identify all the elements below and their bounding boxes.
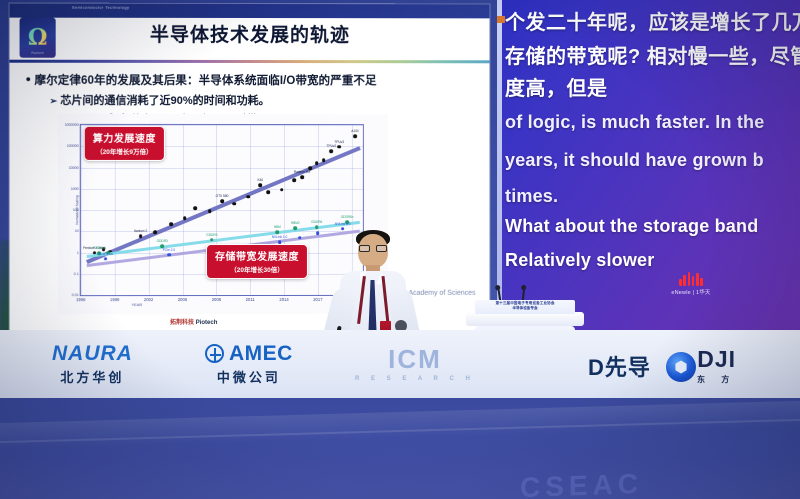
chart-data-point [210,238,214,242]
chart-data-point [293,226,297,230]
slide-credit-left-en: Piotech [196,320,218,326]
screen-orange-marker [497,16,505,23]
sponsor-xiandao-cn: D先导 [588,350,651,382]
chart-data-point [193,207,197,211]
chart-point-label: A100 [351,129,358,133]
chart-y-tick-label: 1000 [71,187,79,191]
subtitle-line-5: years, it should have grown b [505,150,764,171]
chart-data-point [337,145,341,149]
sponsor-logo-naura: NAURA 北方华创 [52,342,133,386]
chart-point-label: PCIe 1.0a [99,252,113,256]
chart-x-tick-label: 2011 [246,297,255,302]
glasses-icon [359,245,387,252]
chart-point-label: PCIe 2.0 [163,248,175,252]
slide-credit-left: 拓荆科技 Piotech [170,317,217,326]
chart-point-label: Itanium 2 [134,229,147,233]
chart-data-point [167,253,171,257]
floor-watermark-cseac: CSEAC [520,468,643,499]
chart-data-point [322,158,326,162]
chart-point-label: GDDR6x [341,215,354,219]
sponsor-logo-dji: DJI 东 方 [697,346,736,385]
podium-plate-line2: 半导体设备专会 [475,306,575,311]
slide-header-strip-text: Semiconductor Technology [72,5,130,10]
chart-data-point [220,199,224,203]
subtitle-line-4: of logic, is much faster. In the [505,112,764,133]
callout-compute-growth: 算力发展速度 （20年增长9万倍） [84,126,165,161]
slide-bullet-secondary: ➢ 芯片间的通信消耗了近90%的时间和功耗。 [50,92,270,108]
chart-x-tick-label: 2014 [279,297,288,302]
chart-data-point [308,167,312,171]
callout-compute-title: 算力发展速度 [93,130,156,145]
slide-bullet-primary: ● 摩尔定律60年的发展及其后果：半导体系统面临I/O带宽的严重不足 [26,72,377,88]
screen-left-edge [497,0,502,330]
sponsor-naura-name: NAURA [52,342,133,366]
subtitle-line-1: 个发二十年呢，应该是增长了几万 [505,6,800,35]
chart-data-point [280,188,284,192]
chart-y-tick-label: 100000 [67,144,79,148]
chart-y-tick-label: 10 [75,229,79,233]
chart-point-label: Radeon RX [294,170,310,174]
callout-compute-subtitle: （20年增长9万倍） [93,146,156,156]
dji-mark-icon [666,352,696,382]
sponsor-watermark-enewle: eNewle | 1华天 [656,272,726,296]
sponsor-dji-cn: 东 方 [697,374,736,385]
chart-point-label: K40 [258,178,264,182]
enewle-label: eNewle | 1华天 [656,288,726,296]
sponsor-amec-text: AMEC [229,342,293,365]
callout-storage-growth: 存储带宽发展速度 （20年增长30倍） [206,244,308,279]
chart-point-label: HBM2 [291,221,300,225]
bullet-arrow-icon: ➢ [50,96,58,106]
chart-data-point [300,175,304,179]
bullet-dot-icon: ● [26,74,32,84]
chart-data-point [233,202,237,206]
chart-gridline-horizontal [81,167,363,168]
chart-data-point [353,134,357,138]
chart-point-label: GDDR6 [311,220,322,224]
chart-point-label: TPUv3 [334,140,344,144]
chart-data-point [330,149,334,153]
sponsor-amec-name: AMEC [205,342,293,366]
chart-data-point [246,195,250,199]
slide-title: 半导体技术发展的轨迹 [10,20,490,48]
chart-data-point [315,161,319,165]
chart-data-point [104,257,108,261]
sponsor-amec-cn: 中微公司 [205,367,293,386]
chart-gridline-horizontal [81,210,363,211]
sponsor-dji-name: DJI [697,346,736,373]
slide-header-strip: Semiconductor Technology [10,4,490,19]
sponsor-icm-name: ICM [355,344,475,375]
chart-data-point [292,178,296,182]
slide-rainbow-divider [10,60,490,64]
chart-x-axis-label: YEAR [132,303,143,307]
chart-y-tick-label: 100 [73,208,79,212]
chart-x-tick-label: 1999 [110,297,119,302]
subtitle-line-2: 存储的带宽呢? 相对慢一些，尽管 [505,40,800,69]
callout-storage-subtitle: （20年增长30倍） [215,264,299,274]
sponsor-banner: NAURA 北方华创 AMEC 中微公司 ICM R E S E A R C H… [0,330,800,400]
sponsor-logo-amec: AMEC 中微公司 [205,342,293,386]
chart-point-label: GTX 580 [216,194,229,198]
chart-point-label: P2000M [93,247,105,251]
chart-y-tick-label: 10000 [69,165,79,169]
subtitle-line-6: times. [505,186,558,207]
chart-gridline-vertical [81,125,82,295]
chart-point-label: GDDR3 [206,233,217,237]
chart-x-tick-label: 2002 [144,297,153,302]
sponsor-logo-icm: ICM R E S E A R C H [355,344,475,382]
slide-bullet-primary-text: 摩尔定律60年的发展及其后果：半导体系统面临I/O带宽的严重不足 [34,75,376,87]
slide-bullet-secondary-text: 芯片间的通信消耗了近90%的时间和功耗。 [60,95,269,107]
sponsor-icm-cn: R E S E A R C H [355,376,475,382]
chart-data-point [275,230,279,234]
chart-x-tick-label: 2008 [212,297,221,302]
chart-gridline-horizontal [81,189,363,190]
chart-point-label: GDDR3 [157,239,168,243]
sponsor-naura-cn: 北方华创 [52,367,133,386]
chart-data-point [154,230,158,234]
chart-x-tick-label: 1996 [76,297,85,302]
chart-data-point [298,236,302,240]
chart-point-label: HBM [274,225,281,229]
chart-y-tick-label: 1 [77,251,79,255]
chart-x-tick-label: 2005 [178,297,187,302]
slide-logo-subtext: Peptech [20,51,56,55]
chart-data-point [259,183,263,187]
amec-mark-icon [205,344,224,363]
chart-data-point [139,234,143,238]
chart-data-point [208,209,212,213]
enewle-bars-icon [656,272,726,286]
chart-y-tick-label: 1000000 [65,123,79,127]
chart-data-point [183,217,187,221]
callout-storage-title: 存储带宽发展速度 [215,248,299,263]
chart-point-label: NVLink 1.0 [272,235,288,239]
subtitle-screen: 个发二十年呢，应该是增长了几万存储的带宽呢? 相对慢一些，尽管度高，但是of l… [497,0,800,330]
slide-credit-left-cn: 拓荆科技 [170,320,194,326]
sponsor-logo-xiandao: D先导 [588,350,651,382]
chart-point-label: TPUv2 [326,144,336,148]
chart-data-point [169,222,173,226]
chart-point-label: NVLink 3.0 [335,222,351,226]
subtitle-line-7: What about the storage band [505,216,758,237]
subtitle-line-3: 度高，但是 [505,72,608,101]
conference-stage-photo: Semiconductor Technology Ω Peptech 半导体技术… [0,0,800,499]
chart-gridline-vertical [182,125,183,295]
subtitle-line-8: Relatively slower [505,250,654,271]
chart-data-point [266,190,270,194]
chart-y-tick-label: 0.1 [74,272,79,276]
podium-top-surface [466,312,584,326]
podium-name-plate: 第十三届中国电子专用设备工业协会 半导体设备专会 [475,300,575,314]
